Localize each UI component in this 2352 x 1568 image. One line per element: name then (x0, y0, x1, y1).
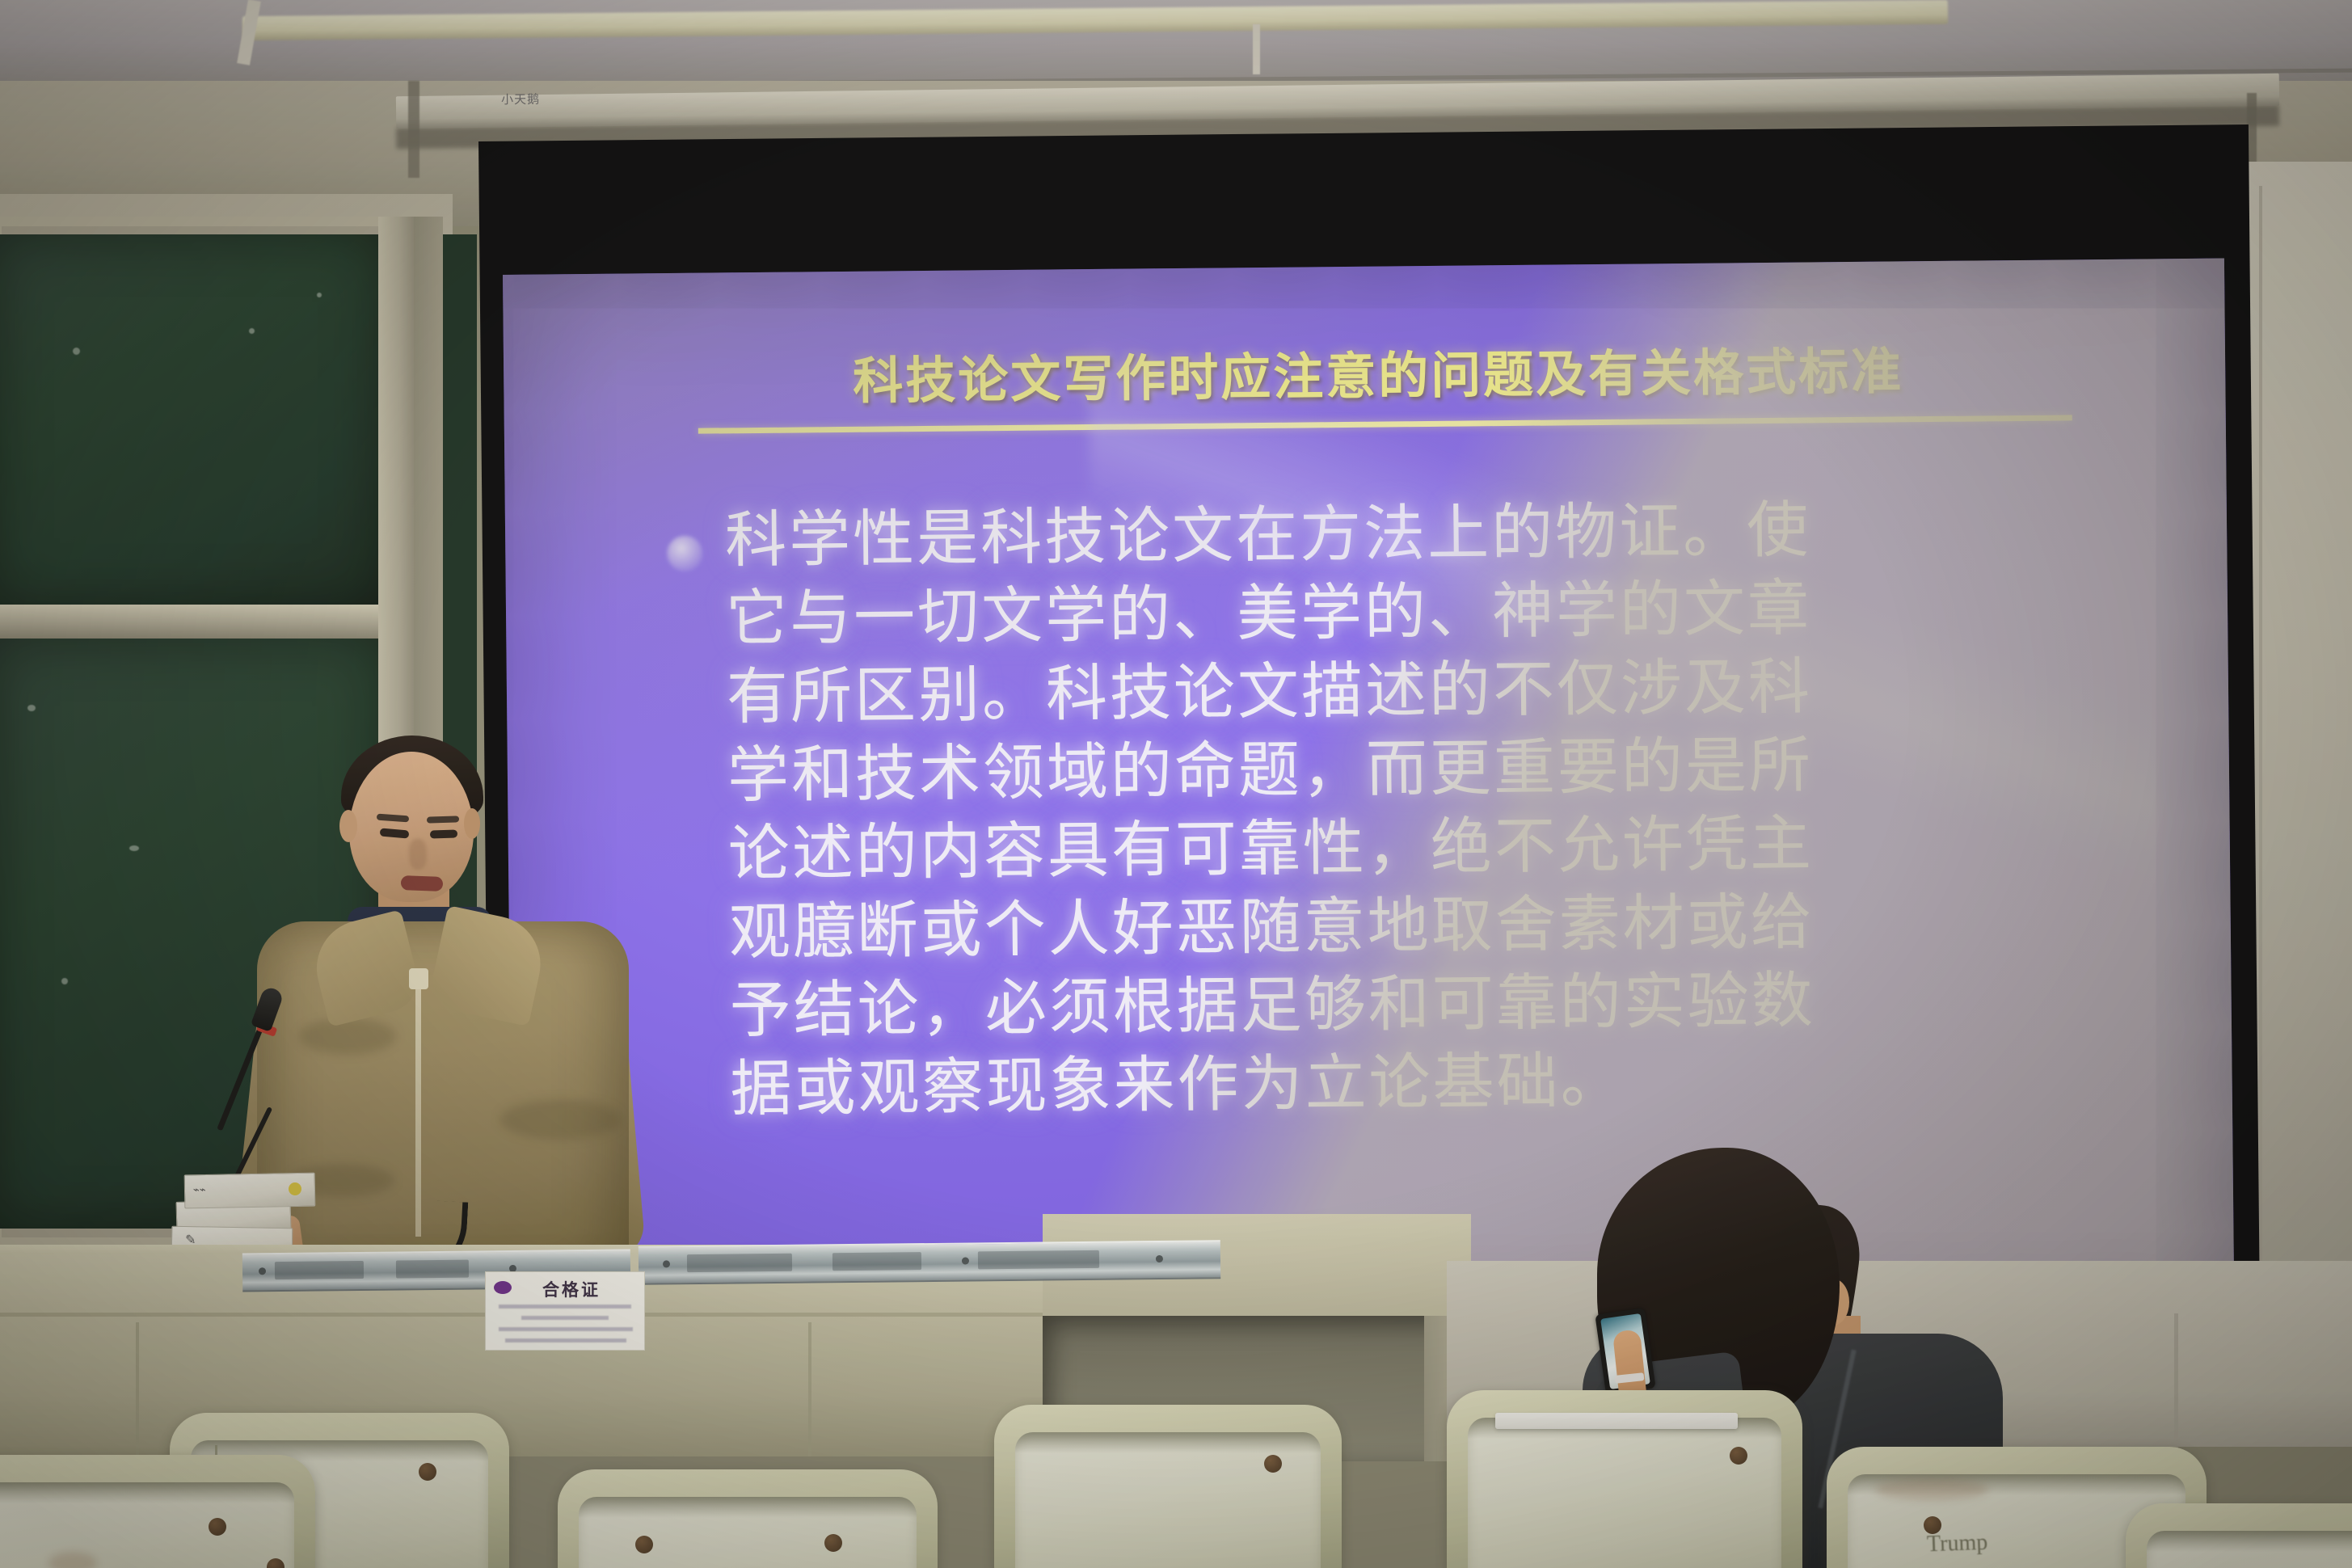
console-drawer-rail[interactable] (639, 1240, 1220, 1285)
seat-graffiti-text: Trump (1926, 1530, 1987, 1558)
classroom-seat[interactable] (994, 1405, 1342, 1568)
ceiling-hanger (1253, 24, 1260, 74)
classroom-seat[interactable] (2126, 1503, 2352, 1568)
classroom-lecture-photo: 小天鹅 科技论文写作时应注意的问题及有关格式标准 科学性是科技论文在方法上的物证… (0, 0, 2352, 1568)
presenter-mouth (401, 875, 444, 891)
presenter-eye-right (430, 829, 457, 838)
console-door-divider (136, 1322, 139, 1456)
presenter-ear-left (339, 810, 357, 842)
console-door-divider (808, 1322, 811, 1456)
chalk-box[interactable]: ⌁⌁ (184, 1173, 316, 1209)
presenter-zipper-pull-icon (409, 968, 428, 989)
classroom-seat[interactable] (558, 1469, 938, 1568)
presenter-eyebrow-right (427, 816, 459, 823)
presenter-ear-right (464, 808, 480, 839)
wall-below-screen-seam (2174, 1313, 2178, 1451)
right-wall-seam (2259, 186, 2262, 1342)
screen-bracket-left (408, 81, 419, 178)
blackboard-panel-upper (0, 234, 380, 606)
presenter-nose (409, 839, 427, 870)
sticker-heading: 合格证 (542, 1277, 601, 1301)
presenter-jacket-zipper (415, 970, 421, 1237)
classroom-seat[interactable] (0, 1455, 315, 1568)
manufacturer-logo-icon (494, 1281, 512, 1294)
chalk-rail (0, 605, 385, 639)
classroom-seat[interactable] (1447, 1390, 1802, 1568)
valance-brand-label: 小天鹅 (501, 91, 540, 108)
certification-sticker: 合格证 (485, 1271, 645, 1351)
